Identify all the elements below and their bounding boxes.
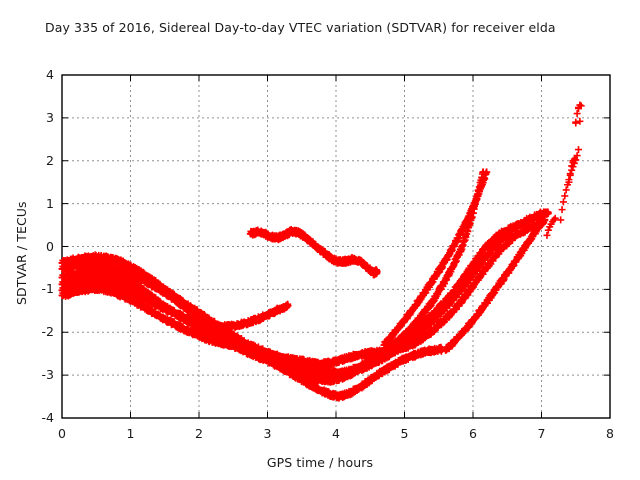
x-tick-label: 3: [248, 426, 288, 441]
x-tick-label: 0: [42, 426, 82, 441]
x-tick-label: 6: [453, 426, 493, 441]
y-tick-label: 3: [14, 110, 54, 125]
x-tick-label: 5: [385, 426, 425, 441]
y-tick-label: 4: [14, 67, 54, 82]
y-tick-label: -3: [14, 367, 54, 382]
y-tick-label: 1: [14, 196, 54, 211]
y-tick-label: 0: [14, 239, 54, 254]
x-tick-label: 7: [522, 426, 562, 441]
y-tick-label: 2: [14, 153, 54, 168]
y-tick-label: -2: [14, 324, 54, 339]
x-tick-label: 2: [179, 426, 219, 441]
y-tick-label: -4: [14, 410, 54, 425]
data-markers: [59, 102, 585, 402]
x-tick-label: 4: [316, 426, 356, 441]
x-tick-label: 8: [590, 426, 630, 441]
plot-canvas: [0, 0, 640, 480]
y-tick-label: -1: [14, 281, 54, 296]
plot-figure: Day 335 of 2016, Sidereal Day-to-day VTE…: [0, 0, 640, 480]
x-tick-label: 1: [111, 426, 151, 441]
